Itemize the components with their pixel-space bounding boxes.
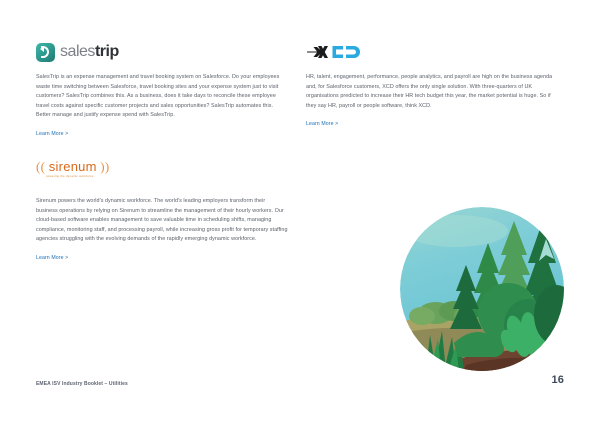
section-xcd: HR, talent, engagement, performance, peo… bbox=[306, 40, 558, 130]
sirenum-tagline: powering the dynamic workforce bbox=[46, 175, 288, 178]
sirenum-wordmark: (( sirenum )) bbox=[36, 160, 288, 173]
left-column: salestrip SalesTrip is an expense manage… bbox=[36, 40, 288, 264]
forest-scene-circle-illustration bbox=[396, 203, 568, 375]
salestrip-word-trip: trip bbox=[95, 43, 119, 60]
sirenum-learn-more-link[interactable]: Learn More > bbox=[36, 254, 68, 262]
xcd-body-text: HR, talent, engagement, performance, peo… bbox=[306, 73, 558, 111]
sirenum-bracket-left: (( bbox=[36, 159, 45, 174]
sirenum-bracket-right: )) bbox=[100, 159, 109, 174]
salestrip-mark-icon bbox=[36, 43, 55, 62]
salestrip-word-sales: sales bbox=[60, 43, 95, 60]
salestrip-logo: salestrip bbox=[36, 40, 288, 64]
salestrip-wordmark: salestrip bbox=[60, 44, 119, 60]
xcd-arrow-mark-icon bbox=[306, 42, 362, 62]
right-column: HR, talent, engagement, performance, peo… bbox=[306, 40, 558, 130]
xcd-logo bbox=[306, 40, 558, 64]
footer-label: EMEA ISV Industry Booklet – Utilities bbox=[36, 381, 128, 387]
xcd-learn-more-link[interactable]: Learn More > bbox=[306, 120, 338, 128]
sirenum-name: sirenum bbox=[49, 159, 97, 174]
page-number: 16 bbox=[552, 374, 564, 386]
section-sirenum: (( sirenum )) powering the dynamic workf… bbox=[36, 160, 288, 264]
sirenum-body-text: Sirenum powers the world's dynamic workf… bbox=[36, 197, 288, 245]
salestrip-learn-more-link[interactable]: Learn More > bbox=[36, 130, 68, 138]
page-canvas: salestrip SalesTrip is an expense manage… bbox=[0, 0, 600, 424]
salestrip-body-text: SalesTrip is an expense management and t… bbox=[36, 73, 288, 121]
section-salestrip: salestrip SalesTrip is an expense manage… bbox=[36, 40, 288, 140]
sirenum-logo: (( sirenum )) powering the dynamic workf… bbox=[36, 160, 288, 186]
